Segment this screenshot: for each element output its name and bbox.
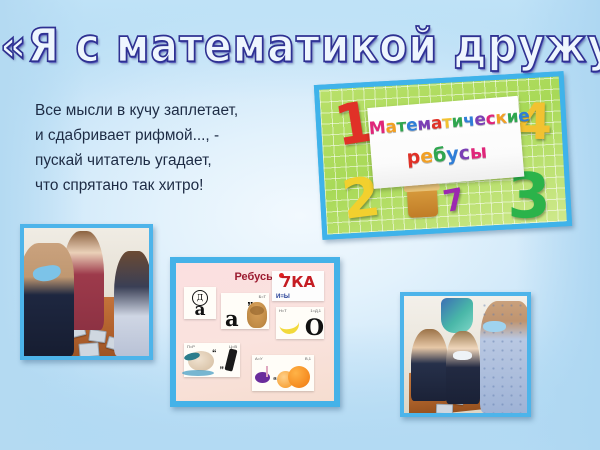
rebus-poster-inner: Ребусы Д а Б=Т а ” 7КА И=Ы Н=Т 1=Д,1 О: [176, 263, 334, 401]
child-right: [114, 251, 149, 356]
rebus-hint: В,1: [305, 356, 311, 361]
rebus-tile-1: Д а: [184, 287, 216, 319]
pelican-icon: [188, 351, 214, 371]
book-title-line-1: Математические: [368, 107, 520, 139]
presentation-slide: «Я с математикой дружу» Все мысли в кучу…: [0, 0, 600, 450]
page-title: «Я с математикой дружу»: [0, 22, 600, 70]
rebus-tile-4: Н=Т 1=Д,1 О: [276, 307, 324, 339]
rebus-hint: Н=Т: [279, 308, 287, 313]
poem-line-1: Все мысли в кучу заплетает,: [35, 98, 297, 123]
basket-icon: [406, 189, 438, 219]
poem-text-block: Все мысли в кучу заплетает, и сдабривает…: [35, 98, 297, 198]
rebus-hint: 1=Д,1: [310, 308, 321, 313]
book-title-letter: ы: [469, 141, 488, 164]
book-title-label: Математические ребусы: [367, 96, 524, 189]
rebus-tile-3: 7КА И=Ы: [272, 271, 324, 301]
orange-icon: [288, 366, 310, 388]
child-left: [411, 329, 448, 402]
book-title-letter: е: [517, 106, 530, 127]
classroom-photo-left: [20, 224, 153, 360]
rebus-hint: П=Р: [187, 344, 195, 349]
book-title-letter: М: [368, 118, 386, 139]
poem-line-4: что спрятано так хитро!: [35, 173, 297, 198]
rebus-hint: И=Ы: [276, 294, 290, 300]
quote-mark: “: [212, 348, 217, 358]
rebus-word: 7КА: [272, 273, 324, 291]
ostrich-icon: [255, 365, 271, 389]
rebus-letter: О: [276, 315, 329, 341]
book-cover-inner: 1 4 2 3 7 Математические ребусы: [319, 76, 567, 234]
rebus-tile-5: П=Р Ц=В “ ”: [184, 343, 240, 377]
phone-icon: [224, 348, 237, 371]
page-title-text: «Я с математикой дружу»: [0, 19, 600, 73]
face-mask-icon: [453, 351, 471, 360]
child-middle: [446, 331, 480, 404]
photo-left-content: [24, 228, 149, 356]
child-left: [24, 243, 74, 356]
rebus-letter: а: [184, 300, 216, 320]
task-card: [436, 403, 453, 413]
photo-right-content: [404, 296, 527, 413]
rebus-poster-image: Ребусы Д а Б=Т а ” 7КА И=Ы Н=Т 1=Д,1 О: [170, 257, 340, 407]
classroom-photo-right: [400, 292, 531, 417]
poem-line-3: пускай читатель угадает,: [35, 148, 297, 173]
dog-icon: [247, 302, 267, 328]
quote-mark: ”: [220, 365, 225, 375]
teacher-figure: [480, 301, 527, 413]
poem-line-2: и сдабривает рифмой..., -: [35, 123, 297, 148]
pattern-overlay: [480, 301, 527, 413]
rebus-hint: Б=Т: [259, 294, 266, 299]
task-card: [78, 342, 99, 356]
rebus-tile-6: А=У В,1 “: [252, 355, 314, 391]
rebus-tile-2: Б=Т а ”: [221, 293, 269, 329]
rebus-hint: А=У: [255, 356, 263, 361]
coat-hanging: [441, 298, 473, 333]
book-title-line-2: ребусы: [371, 138, 523, 172]
book-cover-image: 1 4 2 3 7 Математические ребусы: [314, 71, 572, 240]
